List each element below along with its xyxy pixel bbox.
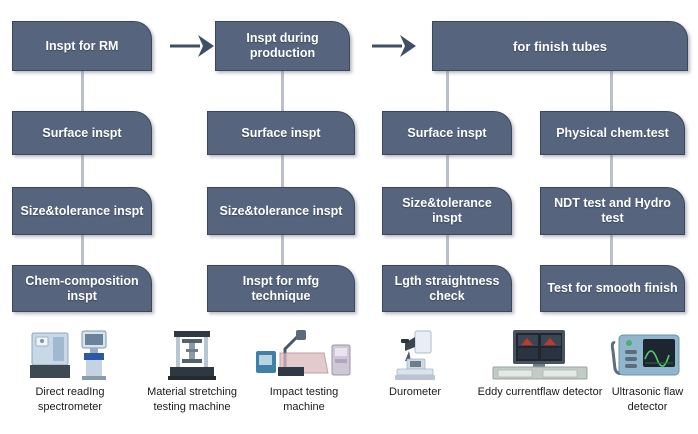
connector-line — [281, 155, 284, 187]
connector-line — [446, 155, 449, 187]
arrow-production-to-finish — [372, 33, 422, 59]
equip-spectrometer[interactable]: Direct readIng spectrometer — [5, 329, 135, 415]
step-production-surface-inspt[interactable]: Surface inspt — [207, 111, 355, 155]
step-finish-left-surface-inspt[interactable]: Surface inspt — [382, 111, 512, 155]
connector-line — [81, 155, 84, 187]
connector-line — [281, 71, 284, 111]
ultrasonic-detector-icon — [600, 329, 695, 381]
connector-line — [81, 71, 84, 111]
arrow-rm-to-production — [170, 33, 220, 59]
equip-ultrasonic[interactable]: Ultrasonic flaw detector — [600, 329, 695, 415]
equip-caption: Eddy currentflaw detector — [460, 385, 620, 400]
step-label: Surface inspt — [389, 126, 505, 141]
connector-line — [610, 155, 613, 187]
step-rm-chem-composition-inspt[interactable]: Chem-composition inspt — [12, 265, 152, 312]
step-finish-right-ndt-hydro-test[interactable]: NDT test and Hydro test — [540, 187, 685, 235]
step-finish-left-size-tolerance-inspt[interactable]: Size&tolerance inspt — [382, 187, 512, 235]
connector-line — [81, 235, 84, 265]
step-label: Size&tolerance inspt — [214, 204, 348, 219]
step-label: Inspt for mfg technique — [214, 274, 348, 304]
equipment-gallery: Direct readIng spectrometer Material str… — [0, 325, 698, 434]
eddy-current-detector-icon — [460, 329, 620, 381]
step-label: Surface inspt — [214, 126, 348, 141]
step-finish-left-lgth-straightness-check[interactable]: Lgth straightness check — [382, 265, 512, 312]
equip-impact[interactable]: Impact testing machine — [240, 329, 368, 415]
connector-line — [446, 71, 449, 111]
connector-line — [610, 71, 613, 111]
stage-header-inspt-during-production[interactable]: Inspt during production — [215, 21, 350, 71]
step-label: Chem-composition inspt — [19, 274, 145, 304]
step-rm-surface-inspt[interactable]: Surface inspt — [12, 111, 152, 155]
step-rm-size-tolerance-inspt[interactable]: Size&tolerance inspt — [12, 187, 152, 235]
step-label: NDT test and Hydro test — [547, 196, 678, 226]
equip-caption: Impact testing machine — [240, 385, 368, 415]
process-flow-diagram: Inspt for RM Inspt during production for… — [0, 0, 698, 325]
equip-caption: Direct readIng spectrometer — [5, 385, 135, 415]
step-production-inspt-for-mfg-technique[interactable]: Inspt for mfg technique — [207, 265, 355, 312]
step-finish-right-physical-chem-test[interactable]: Physical chem.test — [540, 111, 685, 155]
stage-header-inspt-for-rm[interactable]: Inspt for RM — [12, 21, 152, 71]
equip-caption: Ultrasonic flaw detector — [600, 385, 695, 415]
stage-header-label: Inspt during production — [222, 31, 343, 61]
stage-header-label: Inspt for RM — [19, 39, 145, 54]
equip-durometer[interactable]: Durometer — [360, 329, 470, 400]
connector-line — [446, 235, 449, 265]
step-label: Test for smooth finish — [547, 281, 678, 296]
equip-caption: Durometer — [360, 385, 470, 400]
connector-line — [281, 235, 284, 265]
equip-eddy[interactable]: Eddy currentflaw detector — [460, 329, 620, 400]
step-label: Physical chem.test — [547, 126, 678, 141]
stage-header-for-finish-tubes[interactable]: for finish tubes — [432, 21, 688, 71]
step-finish-right-test-for-smooth-finish[interactable]: Test for smooth finish — [540, 265, 685, 312]
step-production-size-tolerance-inspt[interactable]: Size&tolerance inspt — [207, 187, 355, 235]
step-label: Surface inspt — [19, 126, 145, 141]
durometer-icon — [360, 329, 470, 381]
step-label: Size&tolerance inspt — [389, 196, 505, 226]
step-label: Lgth straightness check — [389, 274, 505, 304]
connector-line — [610, 235, 613, 265]
step-label: Size&tolerance inspt — [19, 204, 145, 219]
spectrometer-icon — [5, 329, 135, 381]
stage-header-label: for finish tubes — [439, 39, 681, 54]
impact-tester-icon — [240, 329, 368, 381]
